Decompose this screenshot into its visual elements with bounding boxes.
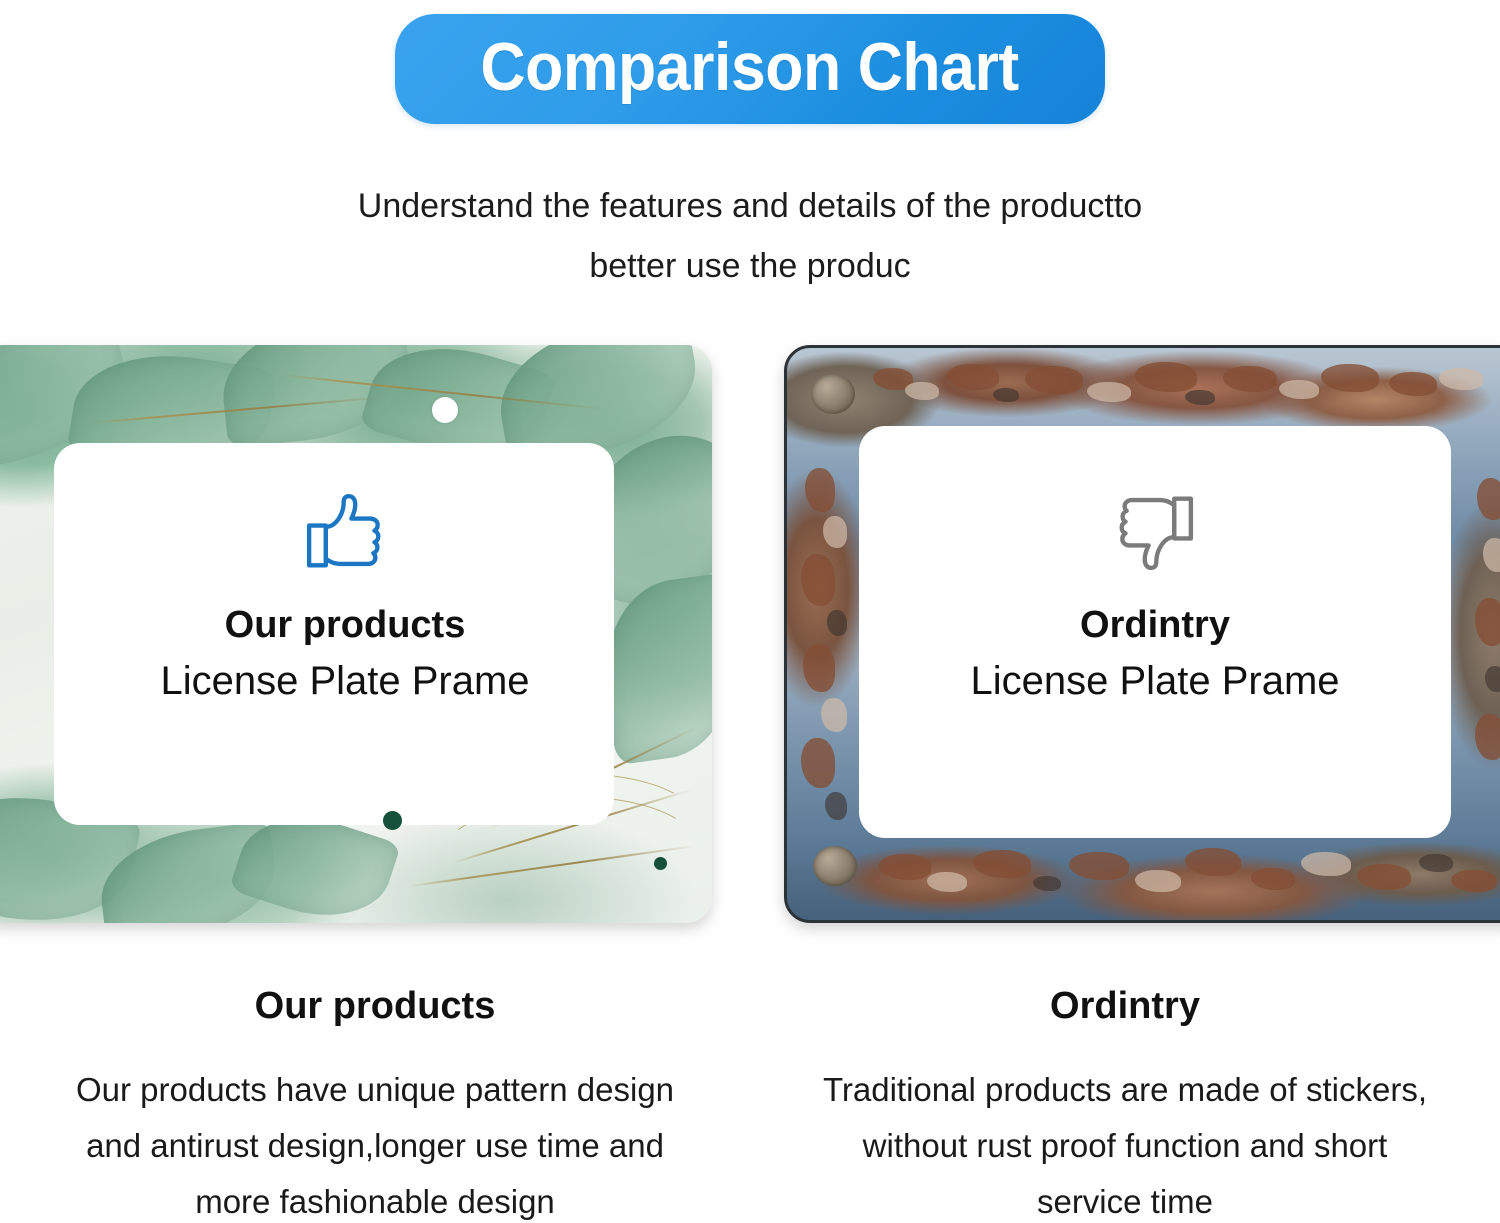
rivet-bottom-left <box>813 846 857 886</box>
our-product-bottom-title: Our products <box>44 980 706 1032</box>
ordinary-product-bottom-title: Ordintry <box>794 980 1456 1032</box>
description-row: Our products Our products have unique pa… <box>0 980 1500 1223</box>
our-product-card: Our products License Plate Prame <box>0 345 712 923</box>
plate-window <box>859 426 1451 838</box>
mounting-hole-bottom-right <box>654 857 667 870</box>
mounting-hole-bottom <box>383 811 402 830</box>
description-line-2: and antirust design,longer use time and <box>44 1118 706 1174</box>
description-line-3: service time <box>794 1174 1456 1223</box>
comparison-chart-page: Comparison Chart Understand the features… <box>0 0 1500 1223</box>
description-line-1: Our products have unique pattern design <box>44 1062 706 1118</box>
page-title: Comparison Chart <box>481 24 1019 110</box>
ordinary-product-image <box>784 345 1500 923</box>
ordinary-product-description-column: Ordintry Traditional products are made o… <box>750 980 1500 1223</box>
subtitle-line-1: Understand the features and details of t… <box>0 176 1500 236</box>
mounting-hole-top <box>432 397 458 423</box>
page-subtitle: Understand the features and details of t… <box>0 176 1500 296</box>
description-line-3: more fashionable design <box>44 1174 706 1223</box>
ordinary-product-card: Ordintry License Plate Prame <box>784 345 1500 923</box>
plate-window <box>54 443 614 825</box>
description-line-2: without rust proof function and short <box>794 1118 1456 1174</box>
title-banner: Comparison Chart <box>395 14 1104 124</box>
our-product-description-column: Our products Our products have unique pa… <box>0 980 750 1223</box>
title-banner-container: Comparison Chart <box>0 14 1500 124</box>
subtitle-line-2: better use the produc <box>0 236 1500 296</box>
ordinary-product-description: Traditional products are made of sticker… <box>794 1062 1456 1223</box>
product-comparison-row: Our products License Plate Prame <box>0 345 1500 925</box>
our-product-image <box>0 345 712 923</box>
description-line-1: Traditional products are made of sticker… <box>794 1062 1456 1118</box>
our-product-description: Our products have unique pattern design … <box>44 1062 706 1223</box>
rivet-top-left <box>811 374 855 414</box>
